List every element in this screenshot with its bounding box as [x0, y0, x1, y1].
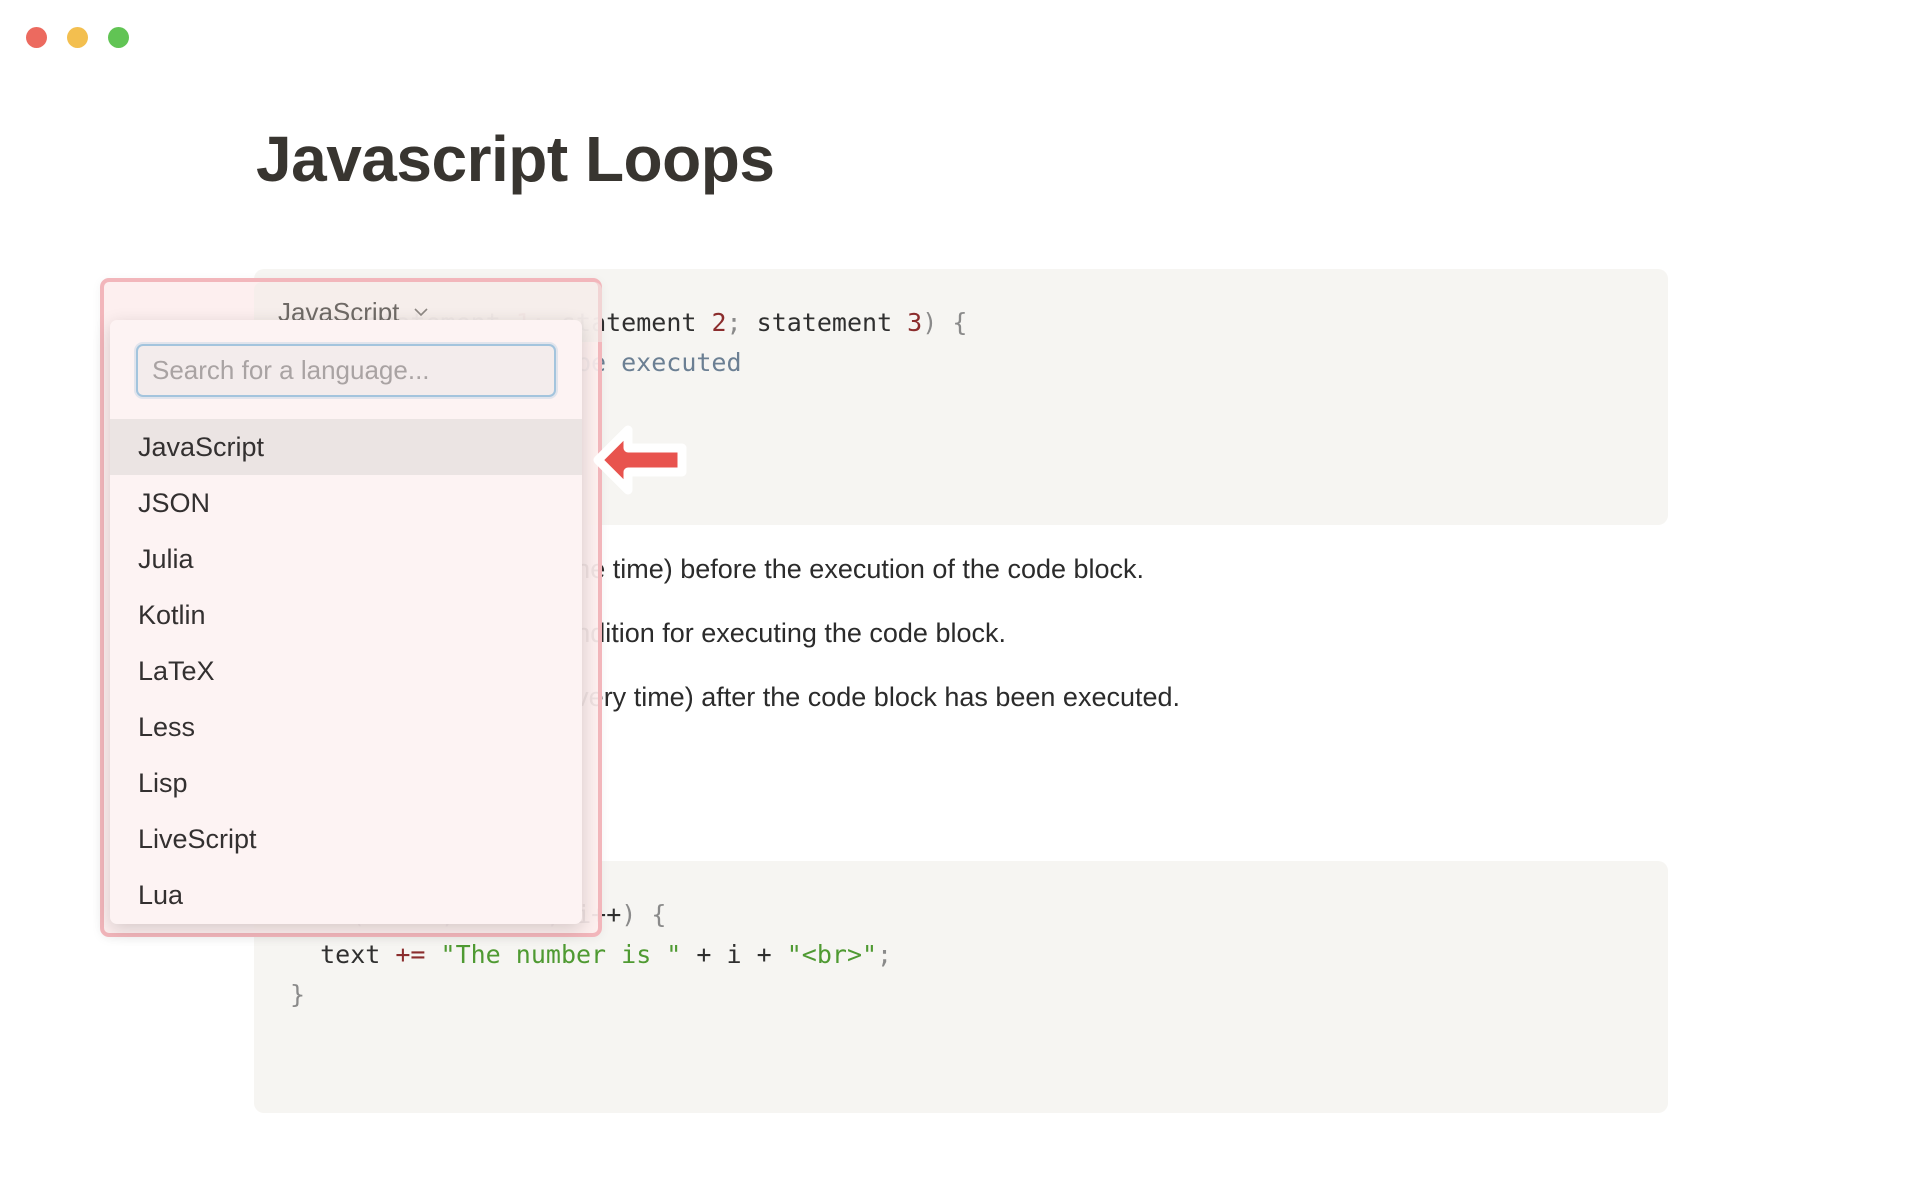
language-option-label: LiveScript	[138, 824, 257, 855]
app-window: Javascript Loops for (statement 1; state…	[0, 0, 1920, 1200]
language-option-less[interactable]: Less	[110, 699, 582, 755]
code-token: "<br>"	[787, 940, 877, 969]
language-option-latex[interactable]: LaTeX	[110, 643, 582, 699]
language-option-label: Julia	[138, 544, 194, 575]
left-arrow-icon	[592, 424, 690, 496]
code-token: statement	[757, 308, 908, 337]
code-token: {	[651, 900, 666, 929]
language-option-label: JavaScript	[138, 432, 264, 463]
language-option-label: LaTeX	[138, 656, 215, 687]
language-search-input[interactable]	[136, 344, 556, 397]
language-option-label: Lua	[138, 880, 183, 911]
code-token: "The number is "	[441, 940, 682, 969]
language-option-livescript[interactable]: LiveScript	[110, 811, 582, 867]
code-token: i	[727, 940, 742, 969]
maximize-button[interactable]	[108, 27, 129, 48]
language-option-julia[interactable]: Julia	[110, 531, 582, 587]
code-line: }	[290, 975, 1632, 1015]
code-line: text += "The number is " + i + "<br>";	[290, 935, 1632, 975]
code-token	[425, 940, 440, 969]
code-token: +=	[395, 940, 425, 969]
close-button[interactable]	[26, 27, 47, 48]
code-token: )	[621, 900, 636, 929]
code-token: ;	[877, 940, 892, 969]
language-option-list: JavaScriptJSONJuliaKotlinLaTeXLessLispLi…	[110, 419, 582, 923]
language-dropdown-panel: JavaScriptJSONJuliaKotlinLaTeXLessLispLi…	[110, 320, 582, 924]
language-search-wrap	[110, 320, 582, 419]
language-option-label: JSON	[138, 488, 210, 519]
code-token	[937, 308, 952, 337]
code-token: {	[952, 308, 967, 337]
language-option-lua[interactable]: Lua	[110, 867, 582, 923]
code-token: }	[290, 980, 305, 1009]
language-option-kotlin[interactable]: Kotlin	[110, 587, 582, 643]
language-option-label: Lisp	[138, 768, 188, 799]
language-option-label: Less	[138, 712, 195, 743]
minimize-button[interactable]	[67, 27, 88, 48]
code-token	[636, 900, 651, 929]
code-token: 2	[711, 308, 726, 337]
code-token: 3	[907, 308, 922, 337]
code-token: text	[290, 940, 395, 969]
window-titlebar	[0, 0, 1920, 74]
code-token: ;	[727, 308, 757, 337]
language-option-label: Kotlin	[138, 600, 206, 631]
language-option-javascript[interactable]: JavaScript	[110, 419, 582, 475]
code-token: +	[681, 940, 726, 969]
language-option-json[interactable]: JSON	[110, 475, 582, 531]
page-title: Javascript Loops	[256, 124, 774, 194]
code-token: )	[922, 308, 937, 337]
code-token: +	[742, 940, 787, 969]
language-option-lisp[interactable]: Lisp	[110, 755, 582, 811]
chevron-down-icon	[411, 302, 431, 322]
